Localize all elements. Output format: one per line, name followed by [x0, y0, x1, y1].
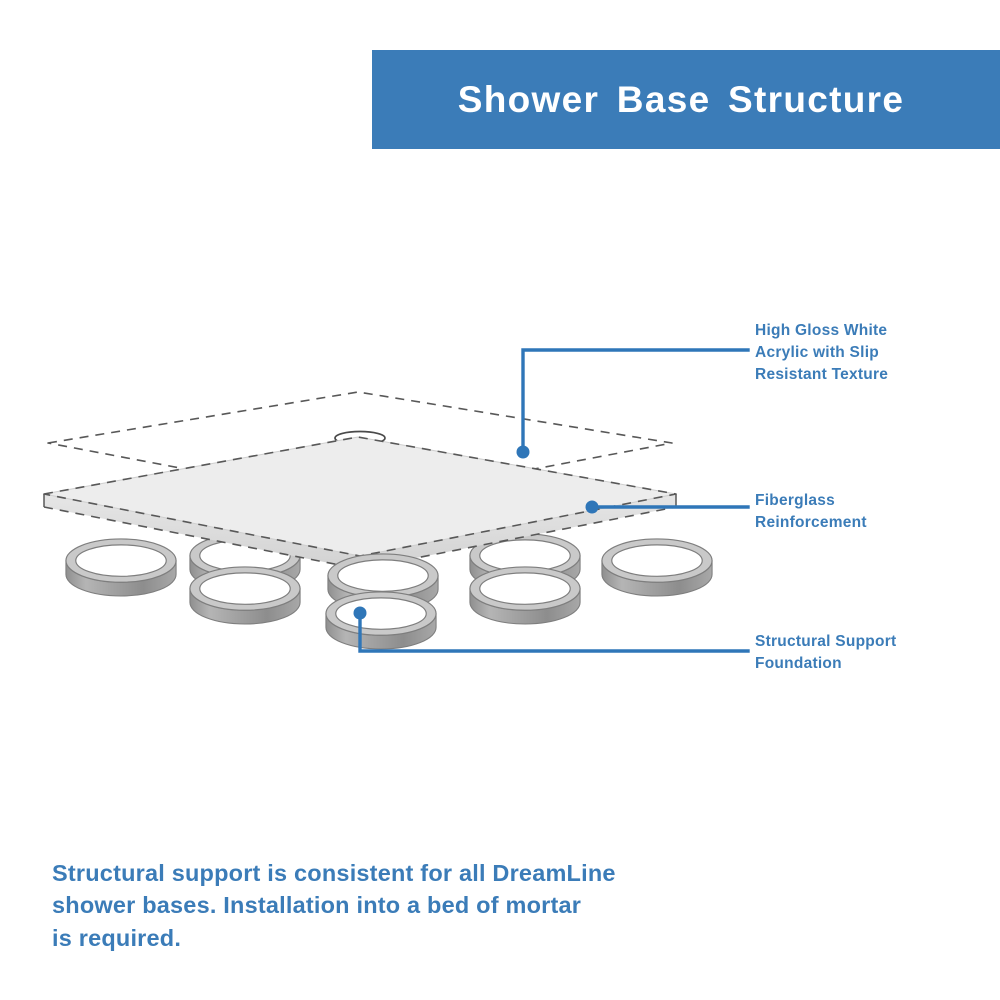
- support-ring-group-front: [66, 539, 712, 649]
- support-ring: [602, 539, 712, 596]
- callout-dot-support: [354, 607, 367, 620]
- callout-label-acrylic: High Gloss White Acrylic with Slip Resis…: [755, 320, 985, 386]
- callout-label-fiberglass: Fiberglass Reinforcement: [755, 490, 985, 534]
- footer-note: Structural support is consistent for all…: [52, 857, 692, 954]
- support-ring: [66, 539, 176, 596]
- slab-top-face: [44, 437, 676, 556]
- callout-label-support: Structural Support Foundation: [755, 631, 985, 675]
- support-ring: [326, 592, 436, 649]
- callout-dot-fiberglass: [586, 501, 599, 514]
- support-ring: [190, 567, 300, 624]
- support-ring: [470, 567, 580, 624]
- callout-dot-acrylic: [517, 446, 530, 459]
